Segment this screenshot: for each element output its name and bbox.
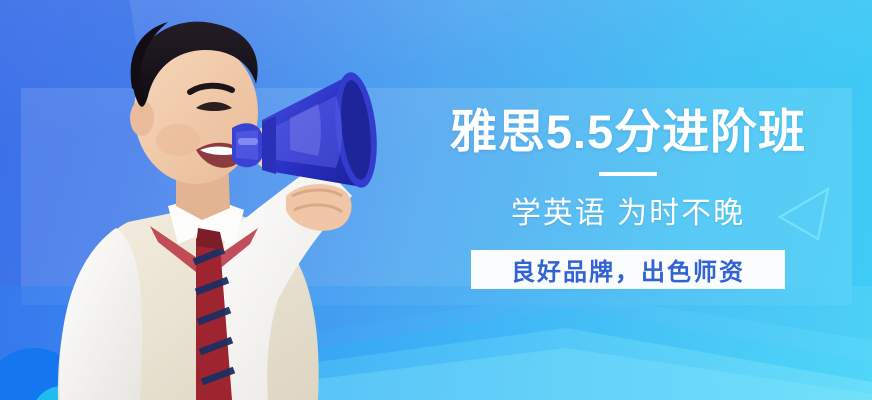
course-promo-banner: 雅思5.5分进阶班 学英语 为时不晚 良好品牌，出色师资 — [0, 0, 872, 400]
banner-headline: 雅思5.5分进阶班 — [423, 104, 833, 159]
tagline-text: 良好品牌，出色师资 — [511, 252, 745, 287]
presenter-photo — [0, 0, 430, 400]
banner-copy: 雅思5.5分进阶班 学英语 为时不晚 良好品牌，出色师资 — [423, 104, 833, 289]
headline-divider — [599, 172, 657, 176]
tagline-box: 良好品牌，出色师资 — [471, 250, 785, 289]
banner-subheadline: 学英语 为时不晚 — [423, 188, 833, 232]
